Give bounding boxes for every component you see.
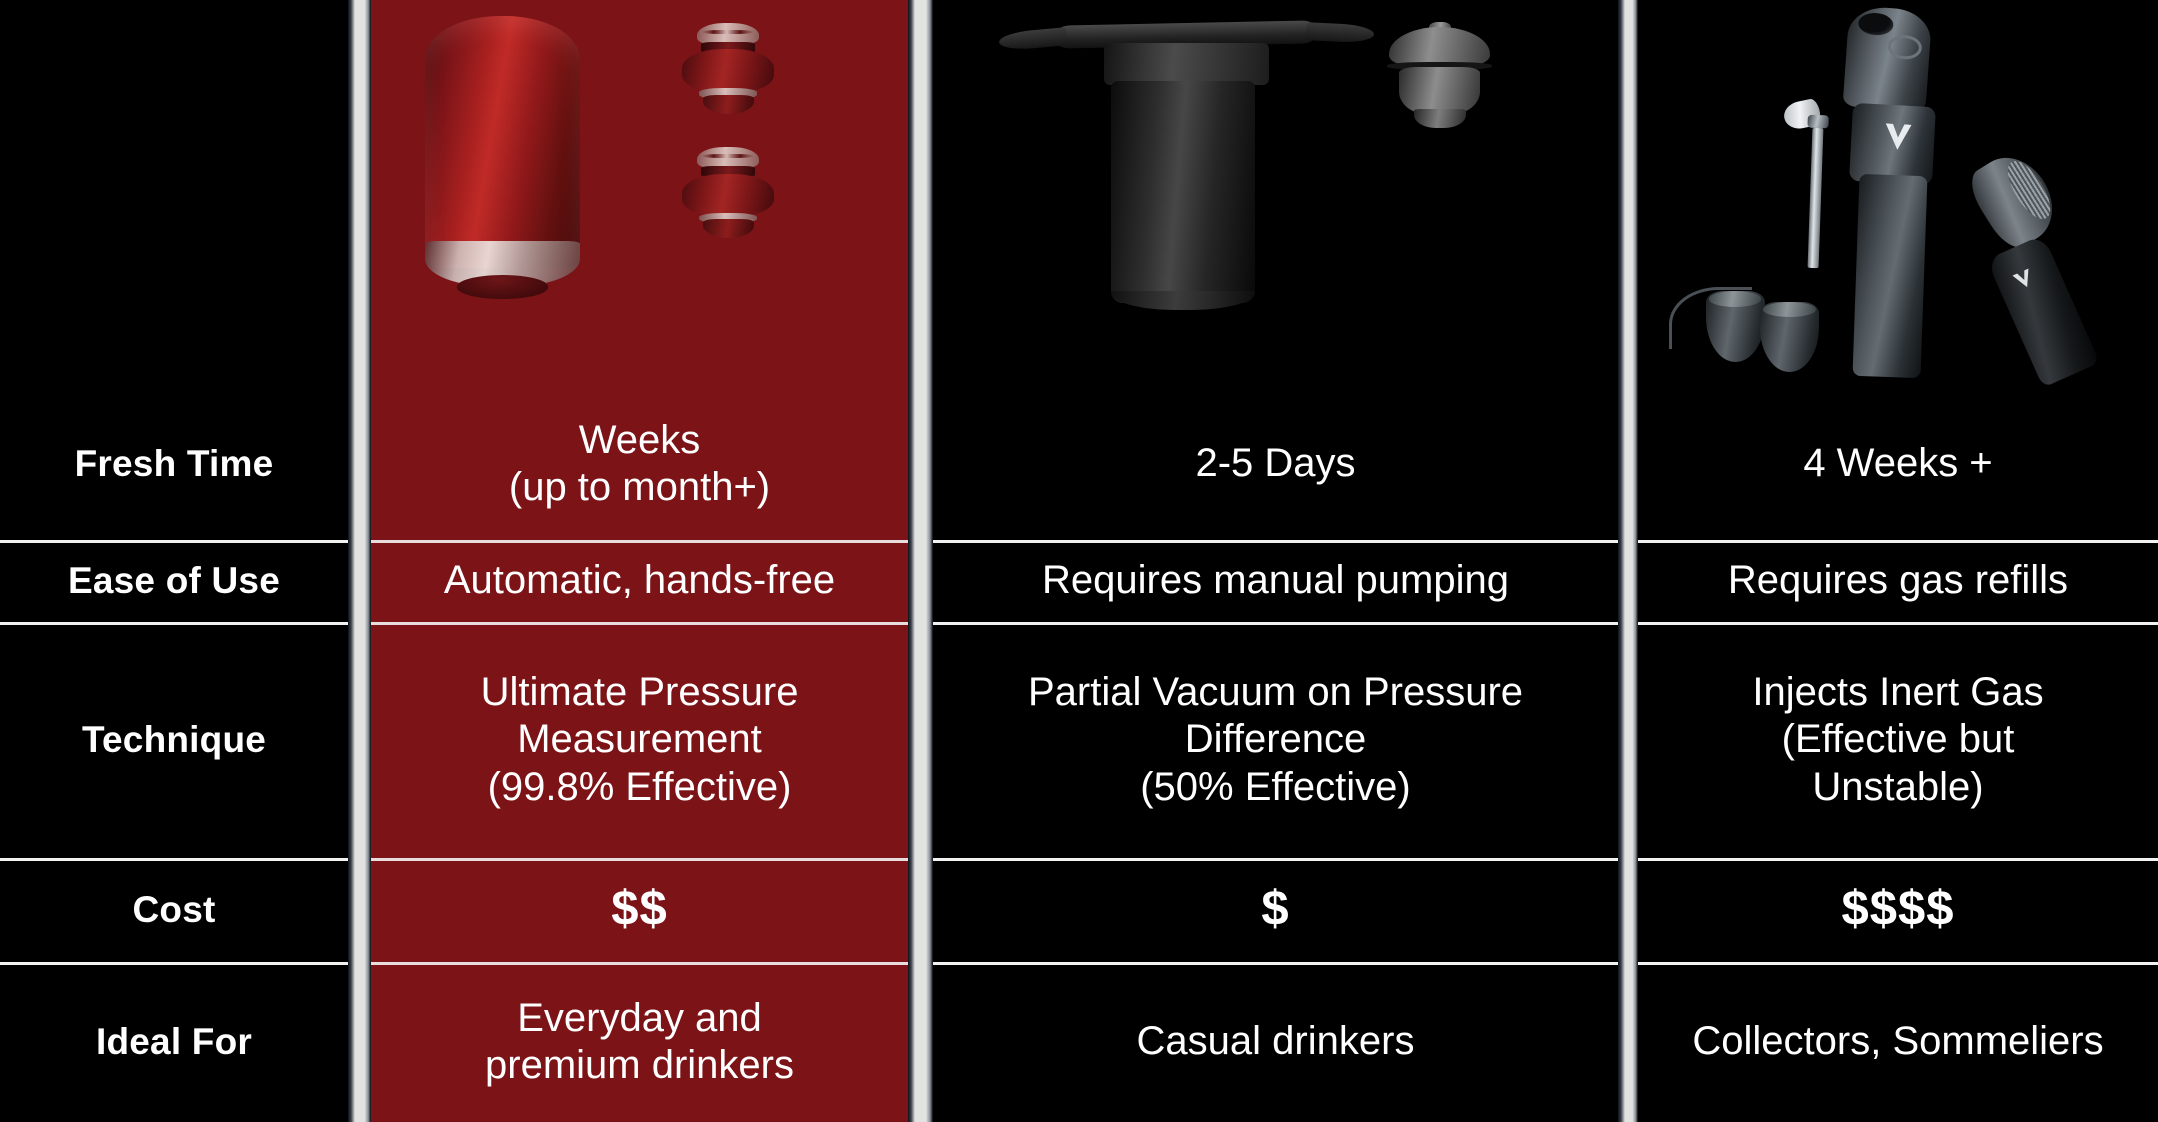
- product-image-column-1: [371, 0, 908, 388]
- cell-line-1: Weeks: [509, 417, 770, 464]
- black-vacuum-pump-art: [933, 0, 1618, 388]
- cell-line-1: Casual drinkers: [1137, 1018, 1415, 1065]
- column-separator-3: [1618, 388, 1638, 540]
- gas-bottle-icon: [1987, 234, 2101, 387]
- column-separator-1: [348, 0, 371, 388]
- row-label-technique: Technique: [0, 622, 348, 858]
- cell-line-1: Partial Vacuum on Pressure: [1028, 669, 1523, 716]
- column-separator-2: [908, 962, 933, 1122]
- column-separator-3: [1618, 622, 1638, 858]
- row-label-ease-of-use: Ease of Use: [0, 540, 348, 622]
- row-label-image-spacer: [0, 0, 348, 388]
- cell-line-2: premium drinkers: [485, 1042, 794, 1089]
- cell-technique-column-1: Ultimate Pressure Measurement (99.8% Eff…: [371, 622, 908, 858]
- cell-technique-column-2: Partial Vacuum on Pressure Difference (5…: [933, 622, 1618, 858]
- screw-cap-pods-icon: [1706, 279, 1841, 380]
- row-label-text: Cost: [132, 888, 215, 932]
- red-wine-preserver-art: [371, 0, 908, 388]
- row-label-ideal-for: Ideal For: [0, 962, 348, 1122]
- column-separator-1: [348, 858, 371, 962]
- column-separator-2: [908, 858, 933, 962]
- column-separator-2: [908, 540, 933, 622]
- row-label-text: Ease of Use: [68, 559, 280, 603]
- cell-text: Requires manual pumping: [1042, 557, 1509, 604]
- cell-ideal-for-column-3: Collectors, Sommeliers: [1638, 962, 2158, 1122]
- pump-foot-icon: [1111, 291, 1255, 310]
- cell-line-2: Difference: [1028, 716, 1523, 763]
- row-label-text: Ideal For: [96, 1020, 252, 1064]
- row-label-cost: Cost: [0, 858, 348, 962]
- cell-line-1: Everyday and: [485, 995, 794, 1042]
- column-separator-3: [1618, 0, 1638, 388]
- cell-line-2: (Effective but: [1752, 716, 2043, 763]
- cell-fresh-time-column-1: Weeks (up to month+): [371, 388, 908, 540]
- cell-line-1: Collectors, Sommeliers: [1692, 1018, 2103, 1065]
- cell-fresh-time-column-2: 2-5 Days: [933, 388, 1618, 540]
- column-separator-1: [348, 388, 371, 540]
- cell-cost-column-2: $: [933, 858, 1618, 962]
- cost-value: $$$$: [1841, 881, 1954, 939]
- cell-line-3: (50% Effective): [1028, 764, 1523, 811]
- row-label-text: Technique: [82, 718, 266, 762]
- pump-collar-icon: [1104, 43, 1268, 86]
- coravin-needle-icon: [1807, 128, 1823, 268]
- coravin-head-icon: [1843, 5, 1933, 111]
- cell-line-3: Unstable): [1752, 764, 2043, 811]
- red-stopper-top-icon: [682, 23, 773, 116]
- cell-ease-of-use-column-3: Requires gas refills: [1638, 540, 2158, 622]
- column-separator-2: [908, 388, 933, 540]
- cell-line-1: 2-5 Days: [1195, 440, 1355, 487]
- cell-line-1: Ultimate Pressure: [481, 669, 799, 716]
- column-separator-2: [908, 622, 933, 858]
- cell-ease-of-use-column-2: Requires manual pumping: [933, 540, 1618, 622]
- cell-line-3: (99.8% Effective): [481, 764, 799, 811]
- cell-ease-of-use-column-1: Automatic, hands-free: [371, 540, 908, 622]
- coravin-midsection-icon: [1849, 103, 1936, 185]
- cost-value: $: [1261, 881, 1289, 939]
- cell-technique-column-3: Injects Inert Gas (Effective but Unstabl…: [1638, 622, 2158, 858]
- cell-line-1: Injects Inert Gas: [1752, 669, 2043, 716]
- coravin-body-icon: [1853, 173, 1928, 377]
- cell-cost-column-1: $$: [371, 858, 908, 962]
- product-image-column-2: [933, 0, 1618, 388]
- row-label-fresh-time: Fresh Time: [0, 388, 348, 540]
- column-separator-3: [1618, 858, 1638, 962]
- cell-ideal-for-column-2: Casual drinkers: [933, 962, 1618, 1122]
- gray-stopper-icon: [1385, 27, 1495, 132]
- column-separator-1: [348, 622, 371, 858]
- pump-barrel-icon: [1111, 81, 1255, 302]
- red-pump-foot-icon: [457, 275, 548, 298]
- cell-line-2: (up to month+): [509, 464, 770, 511]
- cell-fresh-time-column-3: 4 Weeks +: [1638, 388, 2158, 540]
- cost-value: $$: [611, 881, 668, 939]
- red-pump-body-icon: [425, 16, 581, 268]
- cell-ideal-for-column-1: Everyday and premium drinkers: [371, 962, 908, 1122]
- column-separator-3: [1618, 540, 1638, 622]
- column-separator-3: [1618, 962, 1638, 1122]
- column-separator-1: [348, 962, 371, 1122]
- red-stopper-bottom-icon: [682, 147, 773, 240]
- column-separator-2: [908, 0, 933, 388]
- product-comparison-table: CORAVIN Fresh Time Weeks (up to month+) …: [0, 0, 2158, 1122]
- coravin-system-art: CORAVIN: [1638, 0, 2158, 388]
- cell-text: Requires gas refills: [1728, 557, 2068, 604]
- cell-text: Automatic, hands-free: [444, 557, 835, 604]
- column-separator-1: [348, 540, 371, 622]
- row-label-text: Fresh Time: [75, 442, 274, 486]
- gas-capsule-icon: [1963, 144, 2068, 255]
- cell-line-2: Measurement: [481, 716, 799, 763]
- cell-cost-column-3: $$$$: [1638, 858, 2158, 962]
- cell-line-1: 4 Weeks +: [1803, 440, 1992, 487]
- product-image-column-3: CORAVIN: [1638, 0, 2158, 388]
